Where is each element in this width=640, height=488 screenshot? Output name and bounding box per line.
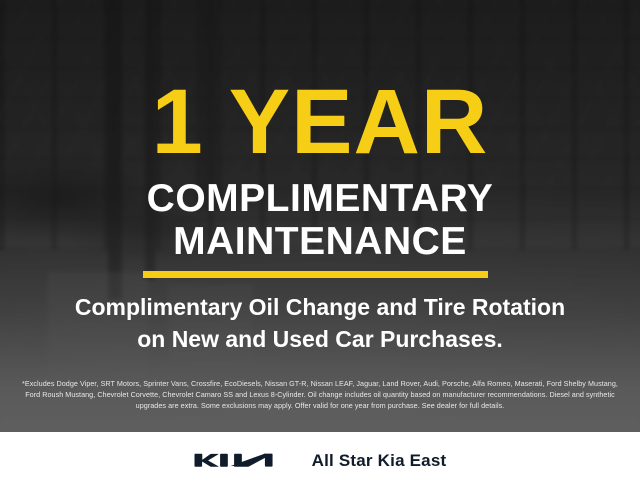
dealer-name: All Star Kia East bbox=[312, 452, 447, 469]
footer-bar: All Star Kia East bbox=[0, 432, 640, 488]
kia-logo bbox=[194, 449, 286, 471]
service-offer-banner: 1 YEAR COMPLIMENTARY MAINTENANCE Complim… bbox=[0, 0, 640, 488]
hero-section: 1 YEAR COMPLIMENTARY MAINTENANCE Complim… bbox=[0, 0, 640, 432]
offer-description-line-1: Complimentary Oil Change and Tire Rotati… bbox=[0, 296, 640, 319]
banner-content: 1 YEAR COMPLIMENTARY MAINTENANCE Complim… bbox=[0, 0, 640, 432]
headline-maintenance: MAINTENANCE bbox=[0, 222, 640, 261]
yellow-divider-bar bbox=[143, 271, 488, 278]
offer-description-line-2: on New and Used Car Purchases. bbox=[0, 328, 640, 351]
disclaimer-fineprint: *Excludes Dodge Viper, SRT Motors, Sprin… bbox=[14, 378, 626, 411]
headline-complimentary: COMPLIMENTARY bbox=[0, 179, 640, 218]
headline-year: 1 YEAR bbox=[0, 76, 640, 168]
footer-brand-group: All Star Kia East bbox=[194, 449, 447, 471]
